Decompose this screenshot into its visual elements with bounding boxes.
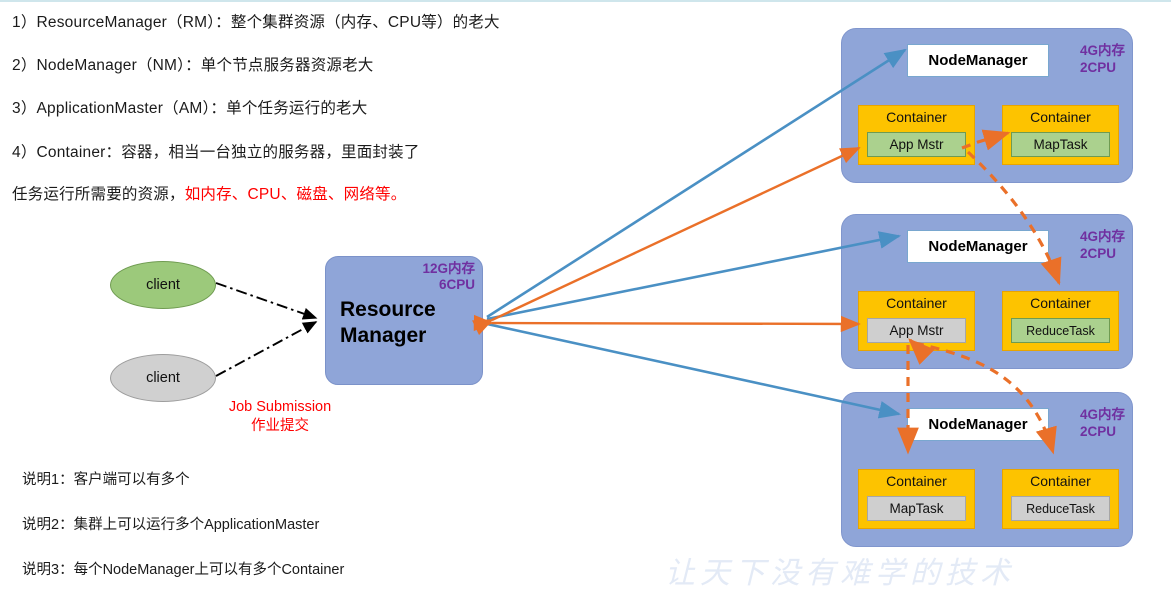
resource-manager-title-line1: Resource (340, 297, 436, 323)
node-manager-spec: 4G内存 2CPU (1080, 42, 1125, 76)
job-submission-label-en: Job Submission (205, 398, 355, 417)
watermark-text: 让天下没有难学的技术 (665, 548, 1015, 592)
client-label: client (146, 277, 180, 293)
resource-manager-title-line2: Manager (340, 323, 436, 349)
resource-manager-cpu: 6CPU (422, 277, 475, 293)
container-label: Container (859, 473, 974, 489)
client-node-green[interactable]: client (110, 261, 216, 309)
container-label: Container (859, 109, 974, 125)
arrow-rm-to-nodemanager-2 (487, 236, 899, 319)
legend-line-2: 2）NodeManager（NM）：单个节点服务器资源老大 (12, 53, 374, 75)
task-app-mstr[interactable]: App Mstr (867, 132, 966, 157)
container-label: Container (1003, 109, 1118, 125)
task-reduce-task[interactable]: ReduceTask (1011, 496, 1110, 521)
legend-line-5-red: 如内存、CPU、磁盘、网络等。 (185, 186, 407, 203)
container-label: Container (1003, 295, 1118, 311)
node-manager-title: NodeManager (907, 230, 1049, 263)
container-box[interactable]: Container MapTask (858, 469, 975, 529)
node-manager-cpu: 2CPU (1080, 245, 1125, 262)
arrow-rm-to-nodemanager-3 (487, 324, 899, 414)
node-manager-panel-1[interactable]: NodeManager 4G内存 2CPU Container App Mstr… (841, 28, 1133, 183)
node-manager-memory: 4G内存 (1080, 406, 1125, 423)
container-box[interactable]: Container ReduceTask (1002, 291, 1119, 351)
arrow-client-to-rm-1 (216, 283, 316, 318)
container-label: Container (859, 295, 974, 311)
task-reduce-task[interactable]: ReduceTask (1011, 318, 1110, 343)
diagram-canvas: 1）ResourceManager（RM）：整个集群资源（内存、CPU等）的老大… (0, 0, 1171, 594)
container-label: Container (1003, 473, 1118, 489)
arrow-appmstr1-to-rm (492, 148, 859, 320)
legend-line-4: 4）Container：容器，相当一台独立的服务器，里面封装了 (12, 140, 420, 162)
task-map-task[interactable]: MapTask (867, 496, 966, 521)
node-manager-cpu: 2CPU (1080, 59, 1125, 76)
legend-line-5: 任务运行所需要的资源，如内存、CPU、磁盘、网络等。 (12, 182, 406, 204)
node-manager-panel-2[interactable]: NodeManager 4G内存 2CPU Container App Mstr… (841, 214, 1133, 369)
resource-manager-box[interactable]: 12G内存 6CPU Resource Manager (325, 256, 483, 385)
legend-line-5-black: 任务运行所需要的资源， (12, 186, 185, 203)
client-label: client (146, 370, 180, 386)
container-box[interactable]: Container MapTask (1002, 105, 1119, 165)
top-divider-line (0, 0, 1171, 2)
legend-line-1: 1）ResourceManager（RM）：整个集群资源（内存、CPU等）的老大 (12, 10, 500, 32)
resource-manager-title: Resource Manager (340, 297, 436, 349)
container-box[interactable]: Container App Mstr (858, 291, 975, 351)
task-map-task[interactable]: MapTask (1011, 132, 1110, 157)
resource-manager-spec: 12G内存 6CPU (422, 261, 475, 293)
node-manager-title: NodeManager (907, 408, 1049, 441)
arrow-appmstr2-to-rm (492, 323, 859, 324)
arrow-client-to-rm-2 (216, 322, 316, 376)
container-box[interactable]: Container App Mstr (858, 105, 975, 165)
container-box[interactable]: Container ReduceTask (1002, 469, 1119, 529)
node-manager-spec: 4G内存 2CPU (1080, 228, 1125, 262)
job-submission-label: Job Submission 作业提交 (205, 398, 355, 436)
task-app-mstr[interactable]: App Mstr (867, 318, 966, 343)
job-submission-label-cn: 作业提交 (205, 417, 355, 436)
node-manager-panel-3[interactable]: NodeManager 4G内存 2CPU Container MapTask … (841, 392, 1133, 547)
node-manager-memory: 4G内存 (1080, 228, 1125, 245)
note-3: 说明3：每个NodeManager上可以有多个Container (22, 558, 344, 579)
node-manager-memory: 4G内存 (1080, 42, 1125, 59)
node-manager-title: NodeManager (907, 44, 1049, 77)
node-manager-cpu: 2CPU (1080, 423, 1125, 440)
note-2: 说明2：集群上可以运行多个ApplicationMaster (22, 513, 319, 534)
note-1: 说明1：客户端可以有多个 (22, 468, 190, 489)
legend-line-3: 3）ApplicationMaster（AM）：单个任务运行的老大 (12, 96, 367, 118)
client-node-gray[interactable]: client (110, 354, 216, 402)
resource-manager-memory: 12G内存 (422, 261, 475, 277)
node-manager-spec: 4G内存 2CPU (1080, 406, 1125, 440)
